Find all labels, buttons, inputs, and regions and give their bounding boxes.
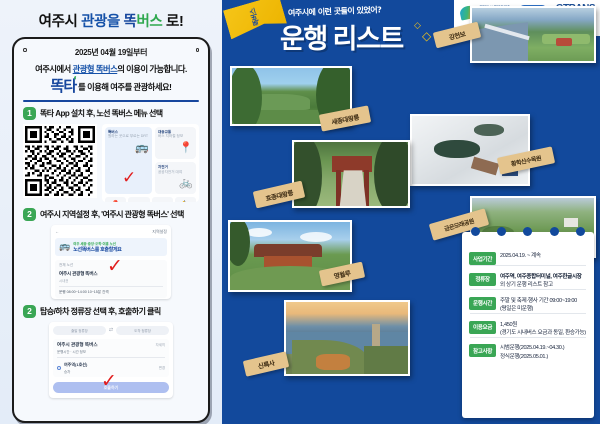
step-3-label: 탑승/하차 정류장 선택 후, 호출하기 클릭 [40, 306, 161, 317]
arrival-stop-input[interactable]: 도착 정류장 [116, 326, 169, 335]
info-separator [470, 289, 586, 290]
route-interval: 10~15분 간격 [88, 290, 109, 294]
mini-taxi[interactable]: 🚕 택시 [152, 197, 173, 201]
dokta-tagline: 를 이용해 여주를 관광하세요! [78, 81, 171, 93]
stop-marker-icon [57, 366, 61, 370]
right-route-list-panel: 똑버스 여주시에 이런 곳들이 있었어? 운행 리스트 ◇ ◇ 행복도시 행복한… [222, 0, 600, 424]
info-row-period: 사업기간 2025.04.19. ~ 계속 [467, 252, 589, 265]
step-1-label: 똑타 App 설치 후, 노선 똑버스 메뉴 선택 [40, 108, 163, 119]
region-setting-button[interactable]: 지역설정 [152, 229, 167, 235]
info-value-hours-sub: (평일은 미운행) [500, 305, 577, 313]
tile-0-title: 똑버스 [108, 130, 118, 134]
selected-stop-name: 여주역(1호선) [64, 362, 156, 368]
taxi-icon: 🚕 [157, 200, 167, 201]
red-check-icon-1: ✓ [122, 168, 136, 188]
route-area: 시내권 [59, 278, 163, 283]
app-mini-menu-row: 📍 노선똑버스 🚗 자율주행 🚕 택시 🛵 [105, 197, 196, 201]
notch-icon [497, 227, 506, 236]
hero-line-1: 여주 세종·중앙·오학·여흥 노선 [73, 241, 121, 246]
route-hours: 운행 08:00~14:00 [59, 290, 87, 294]
step-3-badge: 2 [23, 305, 36, 318]
info-value-notes-trial: 시범운행(2025.04.19.~04.30.) [500, 344, 564, 352]
step-2-screenshot: ← 지역설정 🚌 여주 세종·중앙·오학·여흥 노선 노선똑버스를 호출할게요 … [51, 225, 171, 299]
screw-right-icon [196, 48, 200, 52]
ribbon-label: 똑버스 [248, 7, 263, 27]
info-separator [470, 313, 586, 314]
info-row-fare: 이용요금 1,450원 (경기도 시내버스 요금과 동일, 환승가능) [467, 321, 589, 337]
hero-line-2: 노선똑버스를 호출할게요 [73, 246, 121, 253]
tile-1-sub: 버스 지하철 정보 [158, 134, 183, 138]
instruction-card: 2025년 04월 19일부터 여주시에서 관광형 똑버스의 이용이 가능합니다… [12, 37, 210, 423]
title-part-1: 여주시 [39, 14, 81, 30]
dokta-wordmark: 똑타 ◐ [51, 79, 77, 94]
photo-hyojong-royal-tomb [292, 140, 410, 208]
app-tile-transit[interactable]: 대중교통 버스 지하철 정보 📍 [155, 127, 196, 159]
notch-icon [523, 227, 532, 236]
notch-icon [471, 227, 480, 236]
step-3: 2 탑승/하차 정류장 선택 후, 호출하기 클릭 [21, 305, 201, 318]
info-tag-stops: 정류장 [469, 273, 496, 286]
tile-2-sub: 공공자전거 대여 [158, 170, 182, 174]
info-row-notes: 참고사항 시범운행(2025.04.19.~04.30.) 정식운행(2025.… [467, 344, 589, 360]
thin-divider-2 [57, 357, 165, 358]
info-value-hours-main: 주말 및 축제·행사 기간 09:00~19:00 [500, 297, 577, 305]
info-value-notes-official: 정식운행(2025.05.01.) [500, 353, 564, 361]
tile-1-title: 대중교통 [158, 130, 171, 134]
mini-scooter[interactable]: 🛵 킥보드 [175, 197, 196, 201]
service-start-date: 2025년 04월 19일부터 [21, 47, 201, 58]
step-1-badge: 1 [23, 107, 36, 120]
desc-highlight: 관광형 똑버스 [73, 64, 118, 74]
dokta-logo-row: 똑타 ◐ 를 이용해 여주를 관광하세요! [21, 79, 201, 94]
divider-line [23, 100, 199, 102]
left-panel-title: 여주시 관광을 똑버스 로! [8, 6, 214, 31]
tile-2-title: 자전거 [158, 165, 168, 169]
car-icon: 🚗 [134, 200, 144, 201]
photo-hwanghaksan-arboretum [410, 114, 530, 186]
title-part-5: 로! [162, 14, 183, 30]
notch-icon [576, 227, 585, 236]
photo-gangcheonbo-weir [470, 6, 596, 63]
desc-pre: 여주시에서 [35, 64, 72, 74]
step-3-screenshot: 출발 정류장 ⇄ 도착 정류장 여주시 관광형 똑버스 자세히 운행시간 · 시… [49, 322, 173, 398]
info-separator [470, 265, 586, 266]
info-value-stops-sub: 외 상기 운행 리스트 참고 [500, 281, 582, 289]
pin-icon: 📍 [111, 200, 121, 201]
mini-route-dokbus[interactable]: 📍 노선똑버스 [105, 197, 126, 201]
sparkle-icon-1: ◇ [414, 20, 421, 31]
photo-silleuksa-temple [284, 300, 410, 376]
title-part-4: 버스 [136, 14, 162, 30]
change-stop-button[interactable]: 변경 [159, 365, 165, 370]
app-tile-row: 똑버스 원하는 곳으로 부르는 DRT 🚌 대중교통 버스 지하철 정보 📍 [105, 127, 196, 195]
info-tag-period: 사업기간 [469, 252, 496, 265]
service-description: 여주시에서 관광형 똑버스의 이용이 가능합니다. [21, 63, 201, 75]
mini-autonomous[interactable]: 🚗 자율주행 [128, 197, 149, 201]
red-check-icon-2: ✓ [107, 255, 123, 277]
info-value-stops-main: 여주역, 여주종합터미널, 여주한글시장 [500, 274, 582, 280]
step-1: 1 똑타 App 설치 후, 노선 똑버스 메뉴 선택 [21, 107, 201, 120]
title-part-2: 관광을 [81, 14, 123, 30]
swap-icon[interactable]: ⇄ [109, 327, 113, 333]
page-title: 운행 리스트 [280, 17, 403, 56]
shot2-hero: 🚌 여주 세종·중앙·오학·여흥 노선 노선똑버스를 호출할게요 [55, 238, 167, 256]
red-check-icon-3: ✓ [101, 370, 117, 392]
info-tag-hours: 운행시간 [469, 297, 496, 310]
app-home-screenshot: 똑버스 원하는 곳으로 부르는 DRT 🚌 대중교통 버스 지하철 정보 📍 [102, 124, 199, 202]
step-1-body: 똑버스 원하는 곳으로 부르는 DRT 🚌 대중교통 버스 지하철 정보 📍 [21, 124, 201, 202]
info-row-stops: 정류장 여주역, 여주종합터미널, 여주한글시장 외 상기 운행 리스트 참고 [467, 273, 589, 289]
scooter-icon: 🛵 [180, 200, 190, 201]
shot2-topbar: ← 지역설정 [55, 229, 167, 235]
step-2-badge: 2 [23, 208, 36, 221]
sparkle-icon-2: ◇ [422, 29, 431, 43]
back-arrow-icon[interactable]: ← [55, 229, 59, 234]
left-info-panel: 여주시 관광을 똑버스 로! 2025년 04월 19일부터 여주시에서 관광형… [0, 0, 222, 424]
info-row-hours: 운행시간 주말 및 축제·행사 기간 09:00~19:00 (평일은 미운행) [467, 297, 589, 313]
photo-label-silleuksa-temple: 신륵사 [243, 351, 289, 376]
info-separator [470, 337, 586, 338]
notch-icon [550, 227, 559, 236]
app-download-qr-code[interactable] [23, 124, 97, 198]
service-info-card: 사업기간 2025.04.19. ~ 계속 정류장 여주역, 여주종합터미널, … [462, 232, 594, 418]
thin-divider [59, 286, 163, 287]
bus-icon: 🚌 [108, 139, 149, 156]
tile-0-sub: 원하는 곳으로 부르는 DRT [108, 134, 148, 138]
shot3-route-sub: 운행시간 · 시간 정보 [57, 349, 165, 354]
departure-stop-input[interactable]: 출발 정류장 [53, 326, 106, 335]
location-pin-icon: 📍 [158, 139, 193, 156]
shot3-detail-link[interactable]: 자세히 [156, 342, 165, 347]
dokta-text: 똑타 [51, 78, 77, 95]
wifi-icon: ◐ [73, 74, 77, 82]
info-value-fare-main: 1,450원 [500, 321, 586, 329]
desc-post: 의 이용이 가능합니다. [117, 64, 187, 74]
poster-root: 여주시 관광을 똑버스 로! 2025년 04월 19일부터 여주시에서 관광형… [0, 0, 600, 424]
info-value-period: 2025.04.19. ~ 계속 [500, 252, 541, 260]
notch-row [462, 227, 594, 241]
screw-left-icon [23, 48, 27, 52]
shot3-route-title: 여주시 관광형 똑버스 [57, 342, 98, 348]
step-2-label: 여주시 지역설정 후, '여주시 관광형 똑버스' 선택 [40, 209, 184, 220]
bus-icon: 🚌 [59, 241, 70, 252]
info-value-fare-sub: (경기도 시내버스 요금과 동일, 환승가능) [500, 329, 586, 337]
info-tag-fare: 이용요금 [469, 321, 496, 334]
title-part-3: 똑 [124, 14, 137, 30]
qr-svg [25, 126, 95, 196]
bicycle-icon: 🚲 [158, 174, 193, 191]
stop-selector-row: 출발 정류장 ⇄ 도착 정류장 [53, 326, 169, 335]
info-tag-notes: 참고사항 [469, 344, 496, 357]
app-tile-bicycle[interactable]: 자전거 공공자전거 대여 🚲 [155, 162, 196, 194]
step-2: 2 여주시 지역설정 후, '여주시 관광형 똑버스' 선택 [21, 208, 201, 221]
